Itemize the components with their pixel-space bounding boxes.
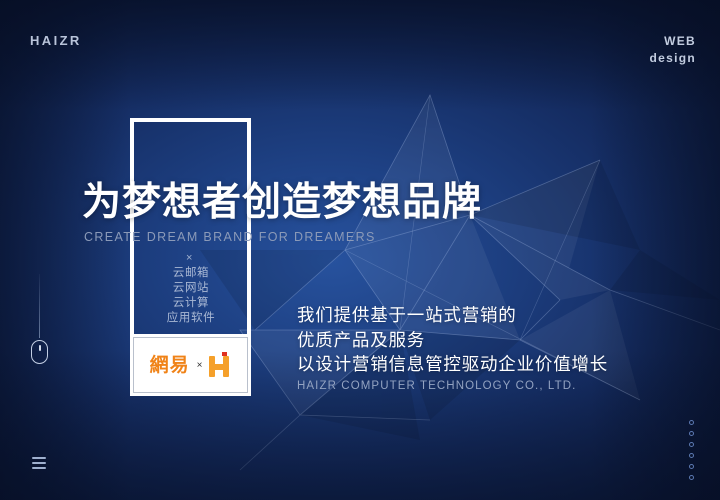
pagination-dot[interactable]: [689, 420, 694, 425]
hamburger-menu-icon[interactable]: [32, 457, 46, 471]
company-english-name: HAIZR COMPUTER TECHNOLOGY CO., LTD.: [297, 380, 608, 392]
copy-line-3: 以设计营销信息管控驱动企业价值增长: [297, 352, 608, 377]
nav-item-cloud-website[interactable]: 云网站: [134, 281, 248, 296]
pagination-dot[interactable]: [689, 475, 694, 480]
service-nav-list: 云邮箱 云网站 云计算 应用软件: [134, 266, 248, 326]
haizr-h-mark-icon: [209, 353, 231, 377]
page-subtitle: CREATE DREAM BRAND FOR DREAMERS: [84, 230, 376, 244]
design-label: design: [650, 50, 696, 67]
copy-line-1: 我们提供基于一站式营销的: [297, 303, 608, 328]
netease-logo-text: 網易: [150, 356, 190, 375]
mouse-scroll-icon[interactable]: [31, 340, 48, 364]
marketing-copy-block: 我们提供基于一站式营销的 优质产品及服务 以设计营销信息管控驱动企业价值增长 H…: [297, 303, 608, 392]
background-vignette: [0, 0, 720, 500]
copy-line-2: 优质产品及服务: [297, 328, 608, 353]
scroll-rail-line: [39, 274, 40, 338]
partner-logo-box[interactable]: 網易 ×: [133, 337, 248, 393]
pagination-dot[interactable]: [689, 431, 694, 436]
pagination-dot[interactable]: [689, 442, 694, 447]
pagination-dot[interactable]: [689, 464, 694, 469]
nav-item-applications[interactable]: 应用软件: [134, 311, 248, 326]
slide-pagination-dots[interactable]: [689, 420, 694, 486]
site-logo-haizr[interactable]: HAIZR: [30, 33, 82, 48]
pagination-dot[interactable]: [689, 453, 694, 458]
page-title: 为梦想者创造梦想品牌: [82, 182, 482, 224]
frame-cross-marker: ×: [186, 252, 192, 264]
nav-item-cloud-mail[interactable]: 云邮箱: [134, 266, 248, 281]
web-design-label: WEB design: [650, 33, 696, 67]
logo-separator-x: ×: [197, 360, 203, 371]
decor-frame-top: [130, 118, 251, 176]
slide-canvas: HAIZR WEB design 为梦想者创造梦想品牌 CREATE DREAM…: [0, 0, 720, 500]
web-label: WEB: [650, 33, 696, 50]
nav-item-cloud-computing[interactable]: 云计算: [134, 296, 248, 311]
